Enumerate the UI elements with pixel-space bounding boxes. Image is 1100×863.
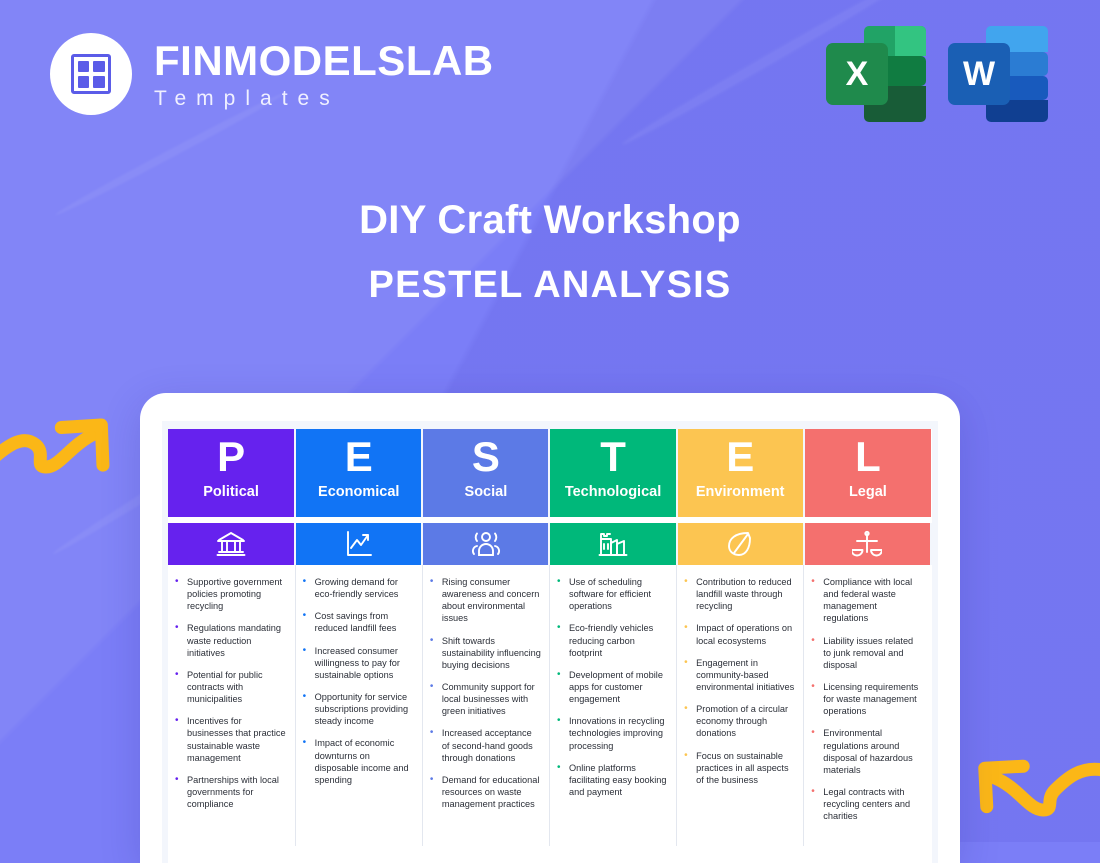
tablet-device-frame: P Political E Economical S Social T Tech… (140, 393, 960, 863)
leaf-icon (677, 523, 804, 565)
brand-text: FINMODELSLAB Templates (154, 40, 494, 109)
bullet-list: Contribution to reduced landfill waste t… (683, 576, 795, 786)
list-item: Opportunity for service subscriptions pr… (302, 691, 414, 727)
excel-letter: X (826, 43, 888, 105)
office-format-icons: X W (826, 26, 1048, 122)
list-item: Use of scheduling software for efficient… (556, 576, 668, 612)
list-item: Cost savings from reduced landfill fees (302, 610, 414, 634)
pestel-header-legal[interactable]: L Legal (804, 429, 931, 517)
list-item: Online platforms facilitating easy booki… (556, 762, 668, 798)
pestel-label: Environment (678, 485, 803, 500)
scales-balance-icon (804, 523, 931, 565)
pestel-letter: L (805, 436, 931, 478)
list-item: Impact of operations on local ecosystems (683, 622, 795, 646)
list-item: Engagement in community-based environmen… (683, 657, 795, 693)
list-item: Impact of economic downturns on disposab… (302, 737, 414, 786)
bullet-list: Growing demand for eco-friendly services… (302, 576, 414, 786)
pestel-body-political: Supportive government policies promoting… (168, 565, 295, 846)
list-item: Growing demand for eco-friendly services (302, 576, 414, 600)
page-title: DIY Craft Workshop (0, 200, 1100, 240)
list-item: Innovations in recycling technologies im… (556, 715, 668, 751)
list-item: Community support for local businesses w… (429, 681, 541, 717)
pestel-table: P Political E Economical S Social T Tech… (168, 429, 932, 846)
list-item: Licensing requirements for waste managem… (810, 681, 923, 717)
list-item: Shift towards sustainability influencing… (429, 635, 541, 671)
tablet-screen: P Political E Economical S Social T Tech… (162, 421, 938, 863)
decorative-arrow-right-icon (955, 752, 1100, 830)
list-item: Partnerships with local governments for … (174, 774, 287, 810)
bullet-list: Compliance with local and federal waste … (810, 576, 923, 822)
pestel-label: Economical (296, 485, 421, 500)
line-chart-icon (295, 523, 422, 565)
pestel-body-economical: Growing demand for eco-friendly services… (295, 565, 422, 846)
pestel-header-environment[interactable]: E Environment (677, 429, 804, 517)
pestel-header-row: P Political E Economical S Social T Tech… (168, 429, 931, 517)
pestel-label: Legal (805, 485, 931, 500)
list-item: Liability issues related to junk removal… (810, 635, 923, 671)
grid-square-icon (50, 33, 132, 115)
pestel-body-row: Supportive government policies promoting… (168, 565, 931, 846)
pestel-body-technological: Use of scheduling software for efficient… (549, 565, 676, 846)
list-item: Contribution to reduced landfill waste t… (683, 576, 795, 612)
list-item: Supportive government policies promoting… (174, 576, 287, 612)
list-item: Increased acceptance of second-hand good… (429, 727, 541, 763)
list-item: Incentives for businesses that practice … (174, 715, 287, 764)
factory-building-icon (549, 523, 676, 565)
pestel-header-technological[interactable]: T Technological (549, 429, 676, 517)
excel-icon: X (826, 26, 926, 122)
word-letter: W (948, 43, 1010, 105)
pestel-letter: E (296, 436, 421, 478)
list-item: Compliance with local and federal waste … (810, 576, 923, 625)
brand-logo: FINMODELSLAB Templates (50, 33, 494, 115)
pestel-body-social: Rising consumer awareness and concern ab… (422, 565, 549, 846)
list-item: Demand for educational resources on wast… (429, 774, 541, 810)
pestel-letter: E (678, 436, 803, 478)
people-group-icon (422, 523, 549, 565)
pestel-label: Technological (550, 485, 675, 500)
list-item: Development of mobile apps for customer … (556, 669, 668, 705)
pestel-label: Political (168, 485, 294, 500)
list-item: Rising consumer awareness and concern ab… (429, 576, 541, 625)
list-item: Promotion of a circular economy through … (683, 703, 795, 739)
pestel-label: Social (423, 485, 548, 500)
brand-tagline: Templates (154, 88, 494, 109)
title-block: DIY Craft Workshop PESTEL ANALYSIS (0, 200, 1100, 304)
page-header: FINMODELSLAB Templates X W (0, 0, 1100, 150)
pestel-header-social[interactable]: S Social (422, 429, 549, 517)
bullet-list: Supportive government policies promoting… (174, 576, 287, 810)
bullet-list: Rising consumer awareness and concern ab… (429, 576, 541, 810)
pestel-header-political[interactable]: P Political (168, 429, 295, 517)
pestel-letter: P (168, 436, 294, 478)
word-icon: W (948, 26, 1048, 122)
brand-name: FINMODELSLAB (154, 40, 494, 82)
list-item: Eco-friendly vehicles reducing carbon fo… (556, 622, 668, 658)
bullet-list: Use of scheduling software for efficient… (556, 576, 668, 798)
pestel-sheet: P Political E Economical S Social T Tech… (168, 429, 932, 863)
decorative-arrow-left-icon (0, 405, 138, 480)
pestel-body-legal: Compliance with local and federal waste … (804, 565, 931, 846)
list-item: Environmental regulations around disposa… (810, 727, 923, 776)
page-subtitle: PESTEL ANALYSIS (0, 266, 1100, 304)
list-item: Focus on sustainable practices in all as… (683, 750, 795, 786)
bank-institution-icon (168, 523, 295, 565)
pestel-header-economical[interactable]: E Economical (295, 429, 422, 517)
pestel-body-environment: Contribution to reduced landfill waste t… (677, 565, 804, 846)
pestel-letter: T (550, 436, 675, 478)
list-item: Potential for public contracts with muni… (174, 669, 287, 705)
list-item: Legal contracts with recycling centers a… (810, 786, 923, 822)
pestel-letter: S (423, 436, 548, 478)
list-item: Regulations mandating waste reduction in… (174, 622, 287, 658)
pestel-icon-row (168, 523, 931, 565)
list-item: Increased consumer willingness to pay fo… (302, 645, 414, 681)
